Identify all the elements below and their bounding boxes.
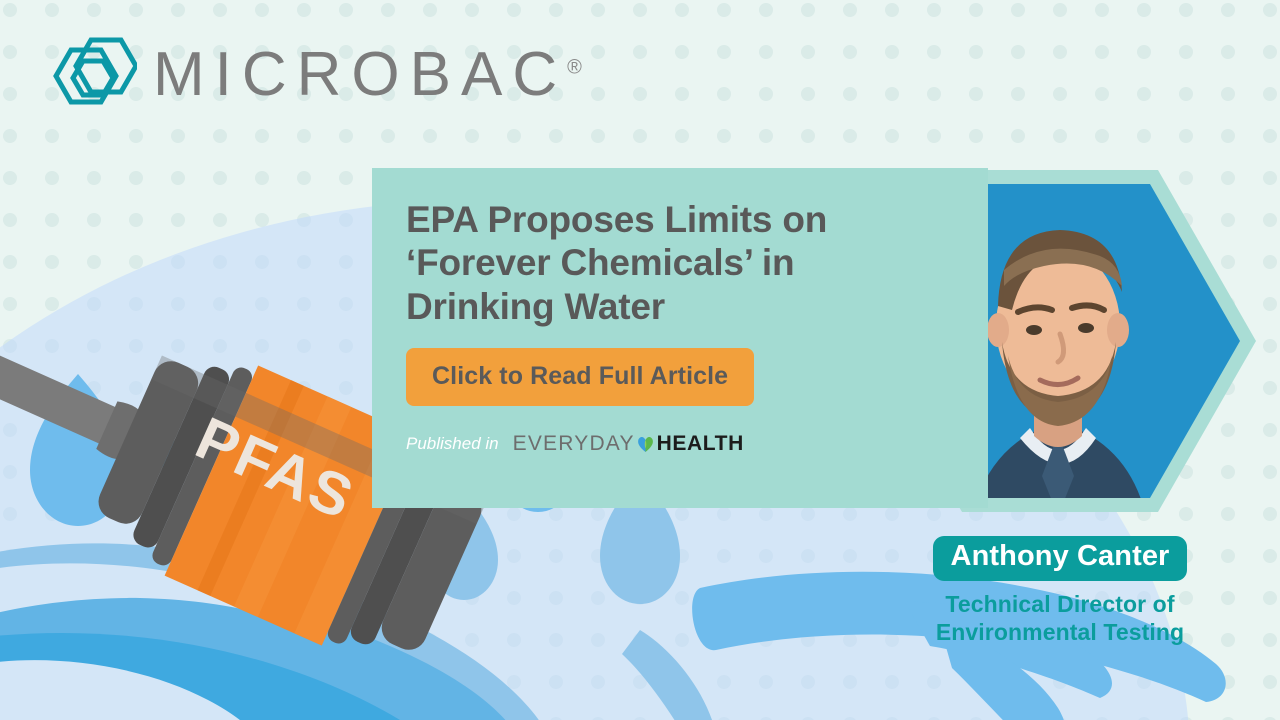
- everyday-health-logo: EVERYDAY HEALTH: [513, 432, 744, 456]
- person-title-line-1: Technical Director of: [900, 590, 1220, 619]
- logo-wordmark-text: MICROBAC: [153, 40, 567, 109]
- registered-mark: ®: [567, 56, 582, 78]
- everyday-health-word-two: HEALTH: [657, 432, 744, 456]
- hexagon-interlock-icon: [45, 34, 137, 116]
- published-in-label: Published in: [406, 434, 499, 454]
- leaf-heart-icon: [637, 435, 654, 453]
- person-credit: Anthony Canter Technical Director of Env…: [900, 536, 1220, 647]
- promo-graphic: PFAS MICROBAC®: [0, 0, 1280, 720]
- logo-wordmark: MICROBAC®: [153, 44, 582, 106]
- person-name: Anthony Canter: [933, 536, 1188, 581]
- person-title: Technical Director of Environmental Test…: [900, 590, 1220, 648]
- read-full-article-button[interactable]: Click to Read Full Article: [406, 348, 754, 406]
- headline-panel: EPA Proposes Limits on ‘Forever Chemical…: [372, 168, 988, 508]
- microbac-logo[interactable]: MICROBAC®: [45, 34, 582, 116]
- person-title-line-2: Environmental Testing: [900, 618, 1220, 647]
- page-title: EPA Proposes Limits on ‘Forever Chemical…: [406, 198, 876, 328]
- publication-credit: Published in EVERYDAY HEALTH: [406, 432, 876, 456]
- everyday-health-word-one: EVERYDAY: [513, 432, 635, 456]
